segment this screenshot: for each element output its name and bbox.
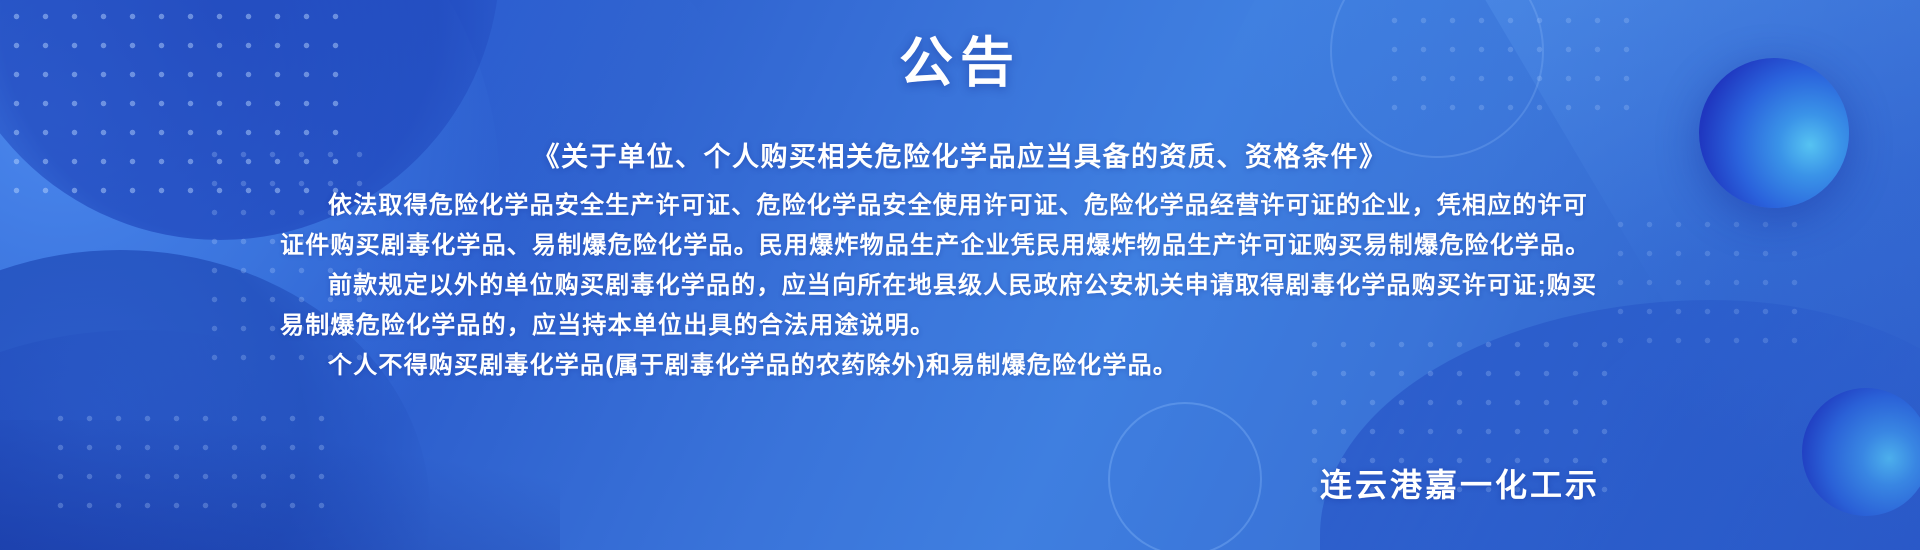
announcement-paragraph-1: 依法取得危险化学品安全生产许可证、危险化学品安全使用许可证、危险化学品经营许可证… [280,186,1600,266]
announcement-title: 公告 [0,33,1920,93]
announcement-content: 公告 《关于单位、个人购买相关危险化学品应当具备的资质、资格条件》 依法取得危险… [0,0,1920,550]
announcement-paragraph-2: 前款规定以外的单位购买剧毒化学品的，应当向所在地县级人民政府公安机关申请取得剧毒… [280,266,1600,346]
announcement-body: 依法取得危险化学品安全生产许可证、危险化学品安全使用许可证、危险化学品经营许可证… [280,186,1600,386]
announcement-subtitle: 《关于单位、个人购买相关危险化学品应当具备的资质、资格条件》 [0,140,1920,174]
announcement-banner: 公告 《关于单位、个人购买相关危险化学品应当具备的资质、资格条件》 依法取得危险… [0,0,1920,550]
announcement-signature: 连云港嘉一化工示 [280,464,1600,506]
announcement-paragraph-3: 个人不得购买剧毒化学品(属于剧毒化学品的农药除外)和易制爆危险化学品。 [280,346,1600,386]
